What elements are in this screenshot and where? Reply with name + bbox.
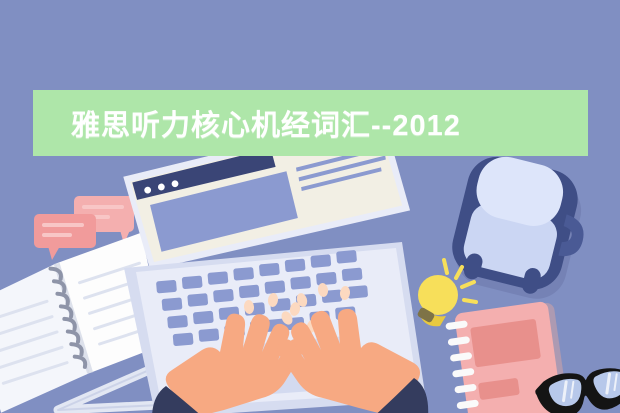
page-title: 雅思听力核心机经词汇--2012	[71, 102, 461, 144]
eyeglasses	[543, 356, 620, 413]
title-banner: 雅思听力核心机经词汇--2012	[33, 90, 588, 156]
laptop	[96, 150, 426, 413]
illustration-canvas: 雅思听力核心机经词汇--2012	[0, 0, 620, 413]
